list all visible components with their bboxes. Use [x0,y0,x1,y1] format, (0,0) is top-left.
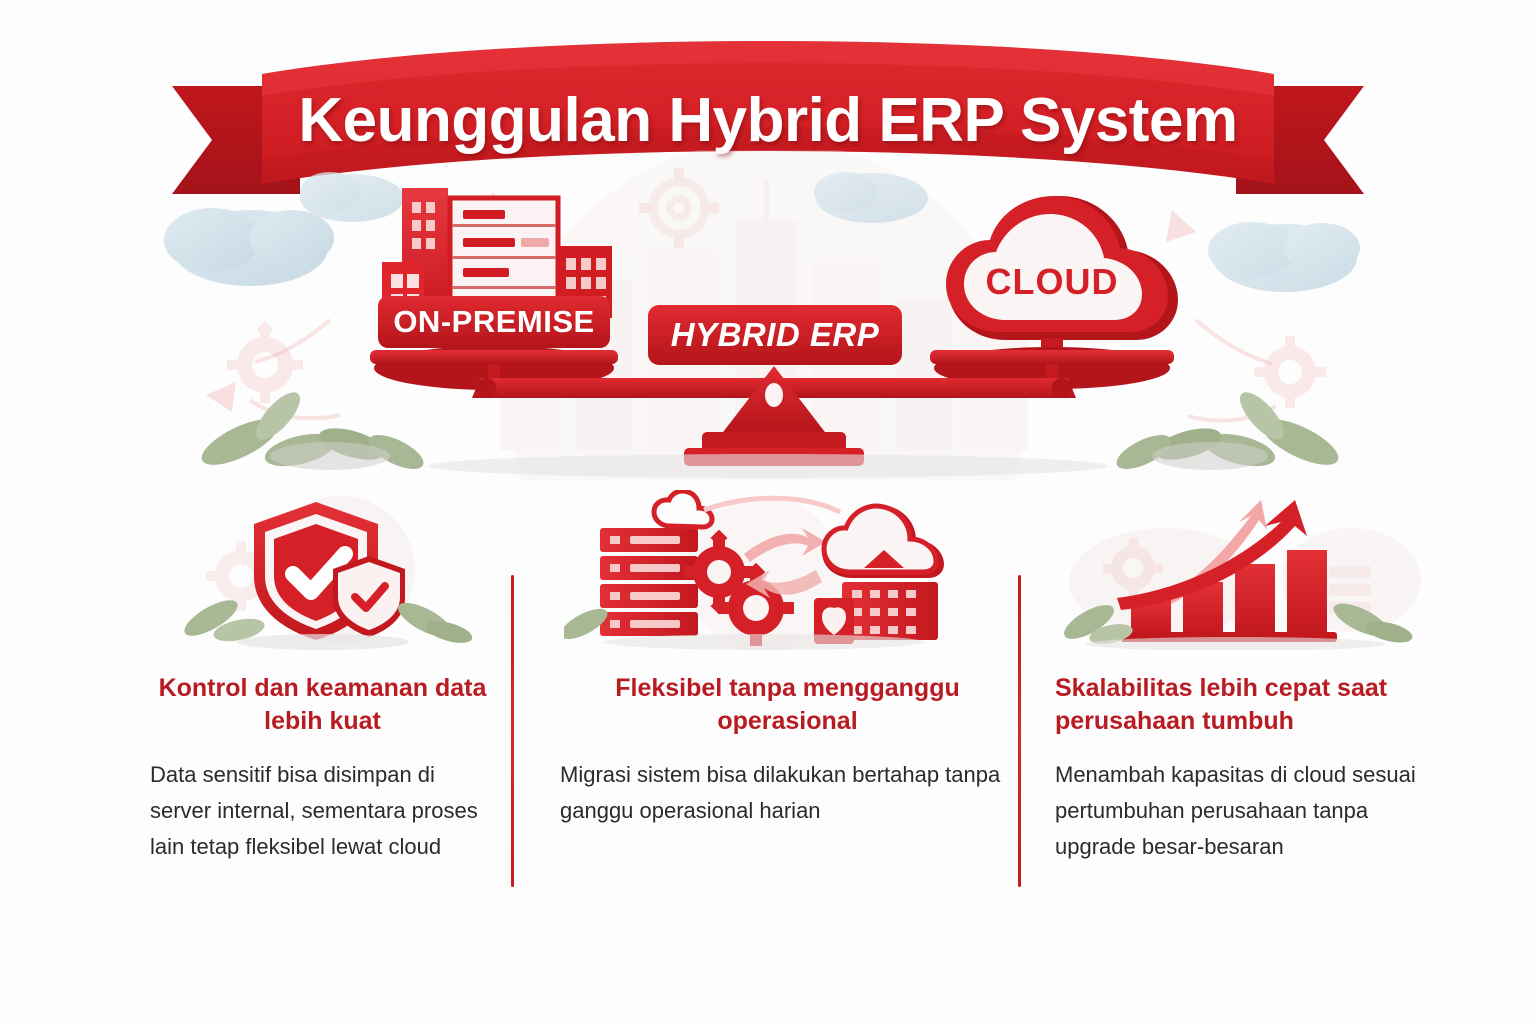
decorative-cloud-left-small [300,172,404,222]
ground-stone-right [1152,442,1268,470]
small-cloud-icon [654,491,712,527]
ground-stone-left [270,442,390,470]
benefit-body-3: Menambah kapasitas di cloud sesuai pertu… [1055,757,1425,865]
benefit-title-1: Kontrol dan keamanan data lebih kuat [150,672,495,739]
balance-scale-illustration: ON-PREMISE CLOUD [0,150,1536,480]
on-premise-label: ON-PREMISE [393,304,594,339]
on-premise-group: ON-PREMISE [370,188,618,390]
hybrid-erp-label: HYBRID ERP [671,316,880,353]
bar-3 [1235,564,1275,636]
server-stack [600,528,698,636]
benefit-title-3: Skalabilitas lebih cepat saat perusahaan… [1055,672,1425,739]
infographic-canvas: Keunggulan Hybrid ERP System [0,0,1536,1024]
benefit-column-1: Kontrol dan keamanan data lebih kuat Dat… [150,490,495,865]
arrow-head-right [1166,210,1196,242]
decorative-cloud-left [164,208,334,286]
arrow-head-left [206,382,236,412]
gear-icon-left [227,321,303,403]
server-cloud-sync-icon [560,490,1015,650]
gear-icon-right [1254,336,1326,408]
benefit-body-2: Migrasi sistem bisa dilakukan bertahap t… [560,757,1015,829]
shield-check-icon [150,490,495,650]
benefit-title-2: Fleksibel tanpa mengganggu operasional [560,672,1015,739]
cloud-icon: CLOUD [946,196,1178,340]
benefit-column-2: Fleksibel tanpa mengganggu operasional M… [560,490,1015,829]
server-rack-icon [842,582,938,640]
ground-shadow [428,454,1108,478]
cloud-label: CLOUD [986,261,1119,302]
decorative-cloud-right [1208,222,1360,292]
scale-scene: ON-PREMISE CLOUD [0,150,1536,480]
bar-4 [1287,550,1327,636]
benefit-column-3: Skalabilitas lebih cepat saat perusahaan… [1055,490,1425,865]
benefits-columns: Kontrol dan keamanan data lebih kuat Dat… [0,490,1536,960]
benefit-body-1: Data sensitif bisa disimpan di server in… [150,757,495,865]
growth-bar-chart-icon [1055,490,1425,650]
cloud-group: CLOUD [930,196,1178,389]
cloud-icon [822,505,944,578]
